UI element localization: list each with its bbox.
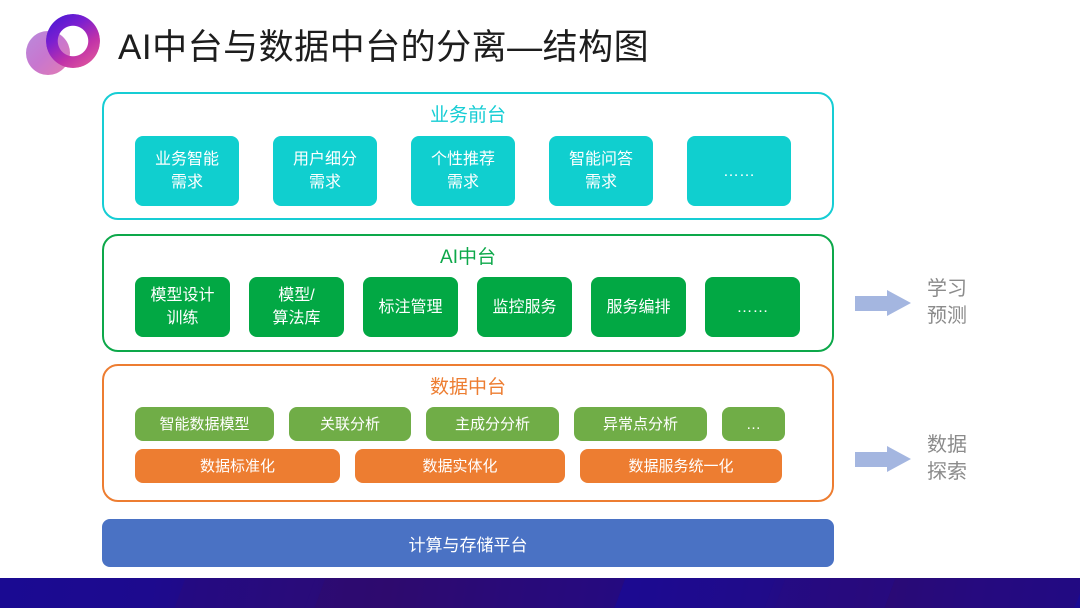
arrow-right-icon [855, 446, 911, 472]
card-line-1: 智能问答 [569, 148, 633, 171]
section-business-frontend: 业务前台 业务智能 需求 用户细分 需求 个性推荐 需求 智能问答 需求 …… [102, 92, 834, 220]
card-intelligent-qa-demand[interactable]: 智能问答 需求 [549, 136, 653, 206]
card-line-2: 需求 [309, 171, 341, 194]
section-ai-platform: AI中台 模型设计 训练 模型/ 算法库 标注管理 监控服务 服务编排 …… [102, 234, 834, 352]
card-row-data-services: 数据标准化 数据实体化 数据服务统一化 [104, 449, 832, 483]
card-monitoring-service[interactable]: 监控服务 [477, 277, 572, 337]
section-title-business-frontend: 业务前台 [104, 94, 832, 125]
card-row-ai-platform: 模型设计 训练 模型/ 算法库 标注管理 监控服务 服务编排 …… [104, 277, 832, 337]
card-data-entitization[interactable]: 数据实体化 [355, 449, 565, 483]
slide-header: AI中台与数据中台的分离—结构图 [0, 0, 1080, 88]
callout-learning-prediction: 学习 预测 [855, 276, 967, 330]
callout-learning-text: 学习 预测 [927, 276, 967, 330]
card-principal-component-analysis[interactable]: 主成分分析 [426, 407, 559, 441]
section-title-ai-platform: AI中台 [104, 236, 832, 267]
card-business-intelligence-demand[interactable]: 业务智能 需求 [135, 136, 239, 206]
card-label: 数据标准化 [200, 455, 275, 478]
band-facet [170, 578, 320, 608]
arrow-shaft [855, 452, 889, 467]
card-annotation-management[interactable]: 标注管理 [363, 277, 458, 337]
card-line-2: 需求 [171, 171, 203, 194]
section-title-data-platform: 数据中台 [104, 366, 832, 397]
card-line-1: 监控服务 [492, 296, 556, 319]
band-facet [880, 578, 1080, 608]
card-model-algorithm-library[interactable]: 模型/ 算法库 [249, 277, 344, 337]
card-label: 主成分分析 [455, 413, 530, 436]
callout-line-1: 数据 [927, 432, 967, 459]
callout-exploration-text: 数据 探索 [927, 432, 967, 486]
band-facet [760, 578, 900, 608]
band-facet [310, 578, 630, 608]
card-line-1: …… [723, 160, 755, 183]
callout-line-2: 预测 [927, 303, 967, 330]
card-ai-platform-more[interactable]: …… [705, 277, 800, 337]
callout-line-1: 学习 [927, 276, 967, 303]
platform-label: 计算与存储平台 [409, 531, 528, 556]
card-line-1: 个性推荐 [431, 148, 495, 171]
brand-logo-icon [24, 11, 100, 77]
page-title: AI中台与数据中台的分离—结构图 [118, 19, 649, 70]
section-data-platform: 数据中台 智能数据模型 关联分析 主成分分析 异常点分析 … 数据标准化 数 [102, 364, 834, 502]
card-label: … [746, 413, 761, 436]
arrow-head [887, 290, 911, 316]
card-data-service-unification[interactable]: 数据服务统一化 [580, 449, 782, 483]
card-label: 数据实体化 [422, 455, 497, 478]
card-label: 智能数据模型 [159, 413, 249, 436]
card-intelligent-data-model[interactable]: 智能数据模型 [135, 407, 274, 441]
card-line-1: 用户细分 [293, 148, 357, 171]
card-line-2: 需求 [585, 171, 617, 194]
card-data-analytics-more[interactable]: … [722, 407, 785, 441]
card-label: 关联分析 [320, 413, 380, 436]
card-line-1: 模型设计 [150, 284, 214, 307]
card-label: 数据服务统一化 [628, 455, 733, 478]
card-service-orchestration[interactable]: 服务编排 [591, 277, 686, 337]
card-line-2: 需求 [447, 171, 479, 194]
arrow-head [887, 446, 911, 472]
card-row-data-analytics: 智能数据模型 关联分析 主成分分析 异常点分析 … [104, 407, 832, 441]
card-line-1: 标注管理 [378, 296, 442, 319]
card-business-frontend-more[interactable]: …… [687, 136, 791, 206]
card-model-design-training[interactable]: 模型设计 训练 [135, 277, 230, 337]
band-facet [610, 578, 790, 608]
card-anomaly-point-analysis[interactable]: 异常点分析 [574, 407, 707, 441]
card-row-business-frontend: 业务智能 需求 用户细分 需求 个性推荐 需求 智能问答 需求 …… [104, 136, 832, 206]
card-line-1: 服务编排 [606, 296, 670, 319]
card-personalized-recommendation-demand[interactable]: 个性推荐 需求 [411, 136, 515, 206]
card-data-standardization[interactable]: 数据标准化 [135, 449, 340, 483]
card-line-1: …… [737, 296, 769, 319]
card-line-1: 业务智能 [155, 148, 219, 171]
card-association-analysis[interactable]: 关联分析 [289, 407, 411, 441]
arrow-shaft [855, 296, 889, 311]
arrow-right-icon [855, 290, 911, 316]
card-line-2: 训练 [166, 307, 198, 330]
card-label: 异常点分析 [603, 413, 678, 436]
card-line-2: 算法库 [272, 307, 320, 330]
slide-canvas: AI中台与数据中台的分离—结构图 业务前台 业务智能 需求 用户细分 需求 个性… [0, 0, 1080, 608]
callout-line-2: 探索 [927, 459, 967, 486]
callout-data-exploration: 数据 探索 [855, 432, 967, 486]
compute-storage-platform-bar[interactable]: 计算与存储平台 [102, 519, 834, 567]
footer-decorative-band [0, 578, 1080, 608]
logo-ring-large [46, 14, 100, 68]
card-line-1: 模型/ [278, 284, 314, 307]
card-user-segmentation-demand[interactable]: 用户细分 需求 [273, 136, 377, 206]
